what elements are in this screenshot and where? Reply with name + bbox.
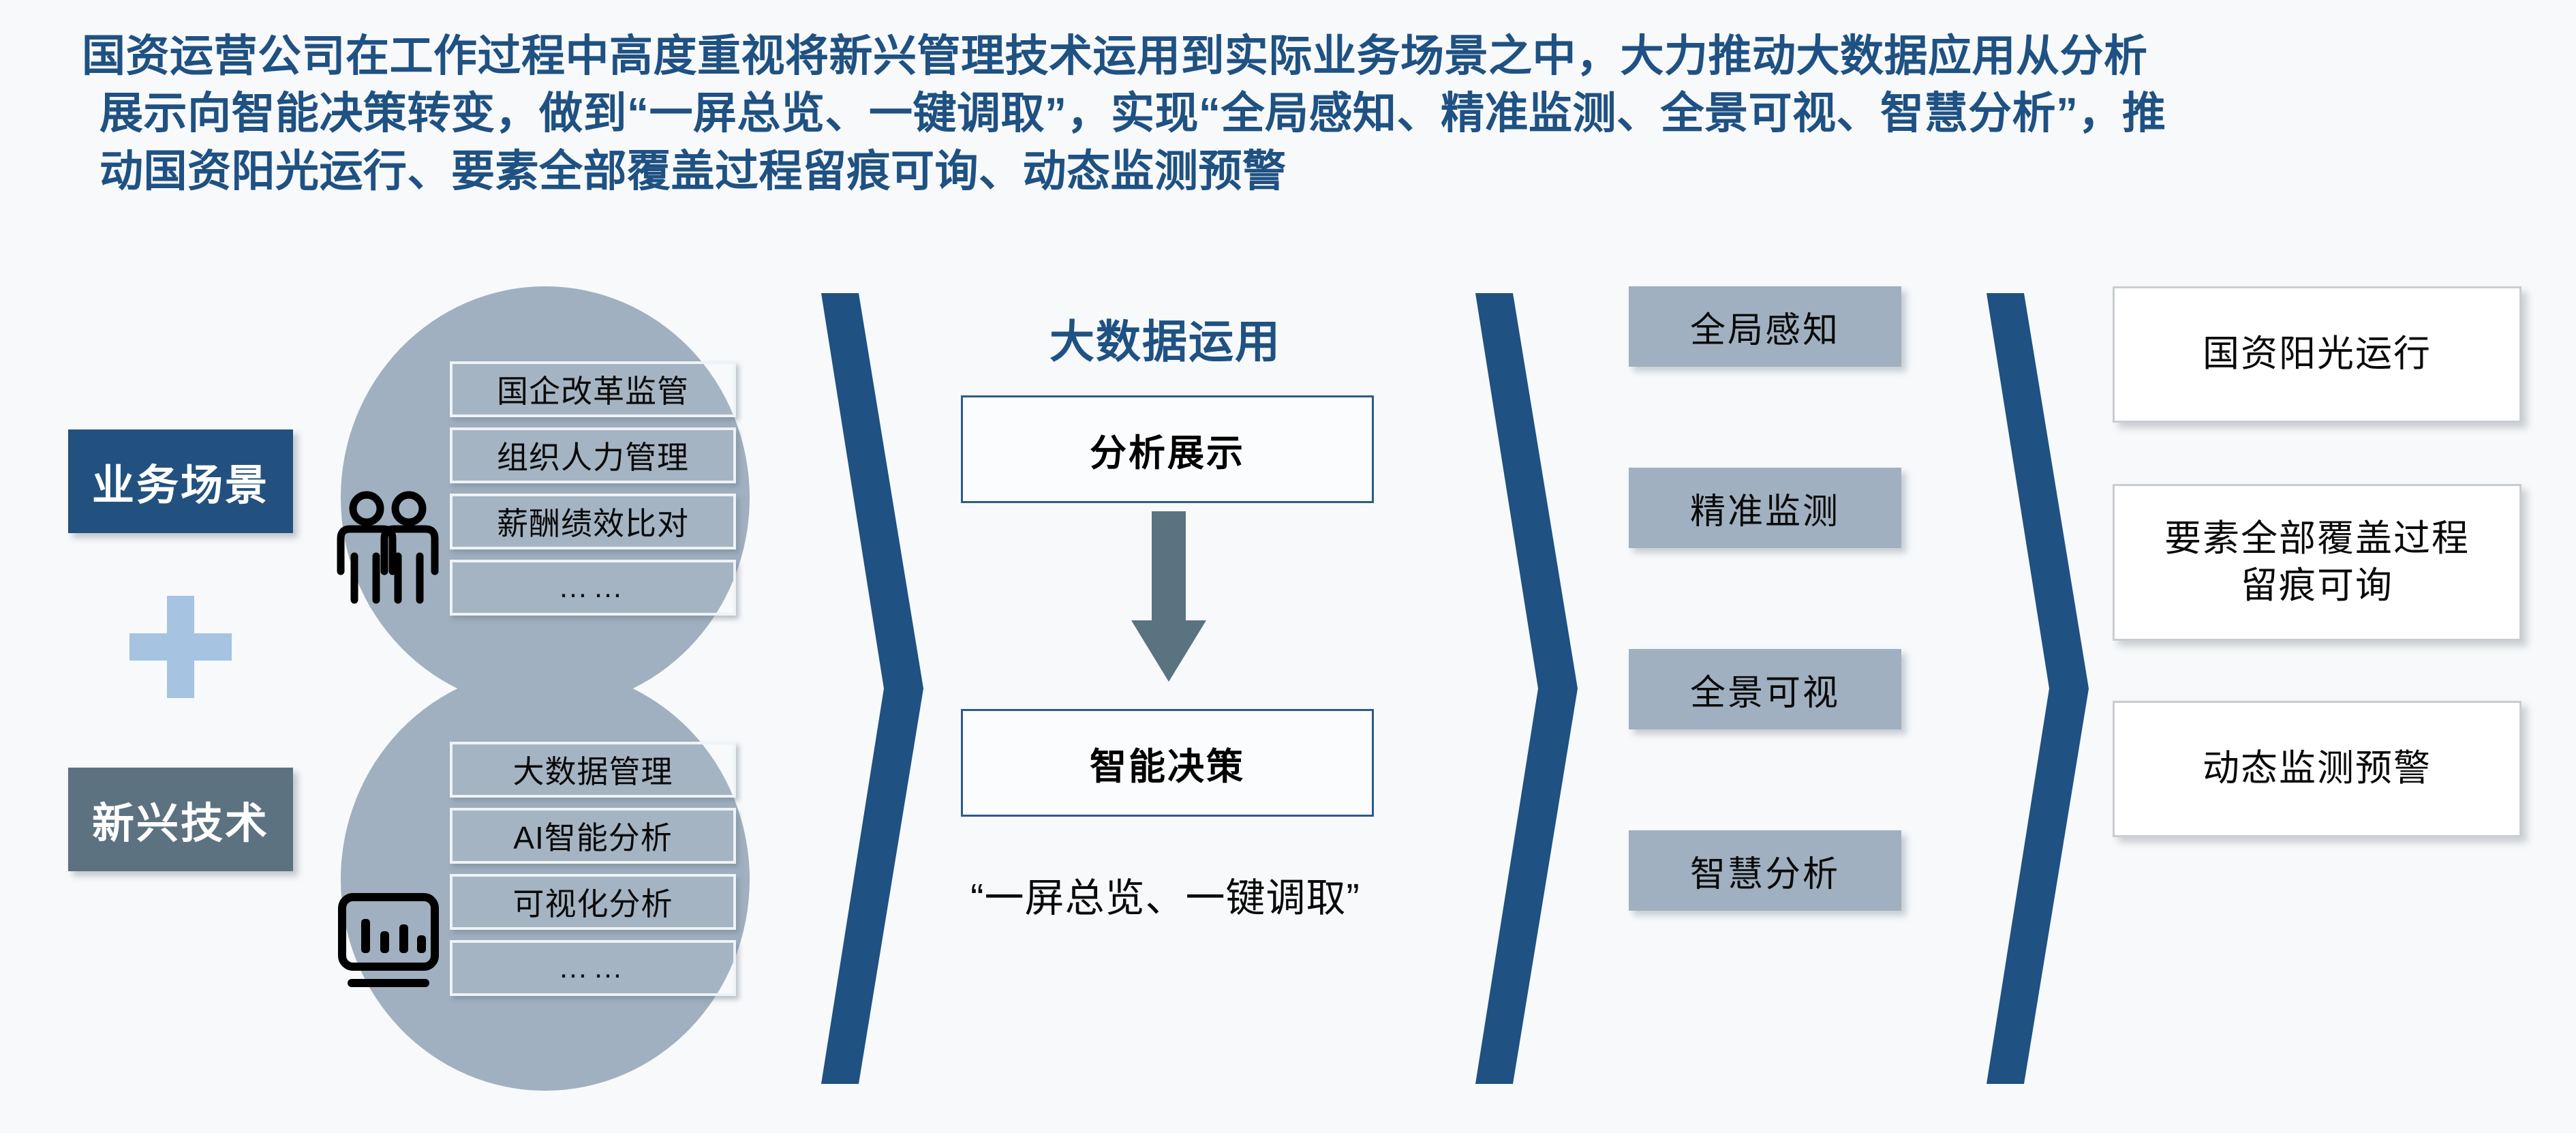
list-item[interactable]: 大数据管理 <box>450 742 736 798</box>
capability-label: 全局感知 <box>1690 301 1840 352</box>
bubble-column: 国企改革监管 组织人力管理 薪酬绩效比对 …… 大数据管理 AI智能分析 可视化… <box>341 286 763 1091</box>
section-heading: 大数据运用 <box>906 305 1424 371</box>
outcome-card-dynamic-monitoring-alert[interactable]: 动态监测预警 <box>2113 701 2521 837</box>
two-people-icon <box>334 491 443 607</box>
capability-item-precise-monitoring[interactable]: 精准监测 <box>1629 468 1901 548</box>
list-item-ellipsis[interactable]: …… <box>450 940 736 996</box>
list-item[interactable]: 组织人力管理 <box>450 427 736 483</box>
diagram-stage: 业务场景 新兴技术 <box>0 273 2576 1133</box>
title-line-3: 动国资阳光运行、要素全部覆盖过程留痕可询、动态监测预警 <box>82 142 2508 200</box>
label-emerging-technology-text: 新兴技术 <box>92 789 269 850</box>
outcome-card-transparent-operation[interactable]: 国资阳光运行 <box>2113 286 2521 423</box>
business-scenario-item-list: 国企改革监管 组织人力管理 薪酬绩效比对 …… <box>450 361 736 616</box>
outcome-column: 国资阳光运行 要素全部覆盖过程 留痕可询 动态监测预警 <box>2113 286 2521 837</box>
flow-node-analysis-display[interactable]: 分析展示 <box>961 395 1374 503</box>
capability-item-global-awareness[interactable]: 全局感知 <box>1629 286 1901 367</box>
capability-label: 智慧分析 <box>1690 845 1840 896</box>
list-item[interactable]: AI智能分析 <box>450 808 736 864</box>
flow-node-label: 分析展示 <box>1090 423 1245 477</box>
list-item-ellipsis[interactable]: …… <box>450 560 736 616</box>
list-item[interactable]: 可视化分析 <box>450 874 736 930</box>
list-item[interactable]: 国企改革监管 <box>450 361 736 417</box>
chip-label: 可视化分析 <box>513 879 673 924</box>
flow-node-smart-decision[interactable]: 智能决策 <box>961 709 1374 817</box>
chip-label: …… <box>558 951 628 985</box>
plus-icon <box>68 569 293 725</box>
chip-label: 国企改革监管 <box>497 367 689 412</box>
chip-label: AI智能分析 <box>513 813 672 858</box>
emerging-technology-item-list: 大数据管理 AI智能分析 可视化分析 …… <box>450 742 736 996</box>
label-emerging-technology[interactable]: 新兴技术 <box>68 768 293 871</box>
page-title: 国资运营公司在工作过程中高度重视将新兴管理技术运用到实际业务场景之中，大力推动大… <box>82 27 2508 200</box>
title-line-2: 展示向智能决策转变，做到“一屏总览、一键调取”，实现“全局感知、精准监测、全景可… <box>82 85 2508 142</box>
flow-node-label: 智能决策 <box>1090 736 1245 790</box>
category-label-column: 业务场景 新兴技术 <box>68 429 313 871</box>
capability-label: 精准监测 <box>1690 483 1840 534</box>
chevron-separator-3-icon <box>1973 286 2096 1091</box>
chip-label: …… <box>558 571 628 605</box>
big-data-section: 大数据运用 分析展示 智能决策 “一屏总览、一键调取” <box>906 286 1424 1091</box>
chip-label: 薪酬绩效比对 <box>497 499 689 544</box>
capability-column: 全局感知 精准监测 全景可视 智慧分析 <box>1629 286 1901 1012</box>
capability-label: 全景可视 <box>1690 664 1840 715</box>
title-line-1: 国资运营公司在工作过程中高度重视将新兴管理技术运用到实际业务场景之中，大力推动大… <box>82 27 2508 85</box>
down-arrow-icon <box>1131 511 1206 682</box>
outcome-card-full-coverage-traceability[interactable]: 要素全部覆盖过程 留痕可询 <box>2113 484 2521 641</box>
section-caption: “一屏总览、一键调取” <box>906 866 1424 923</box>
outcome-card-label: 动态监测预警 <box>2203 745 2432 792</box>
chevron-separator-2-icon <box>1462 286 1584 1091</box>
capability-item-panoramic-visibility[interactable]: 全景可视 <box>1629 649 1901 729</box>
capability-item-smart-analysis[interactable]: 智慧分析 <box>1629 830 1901 911</box>
outcome-card-label: 要素全部覆盖过程 留痕可询 <box>2164 515 2470 609</box>
label-business-scenario-text: 业务场景 <box>92 451 269 512</box>
chip-label: 大数据管理 <box>513 747 673 792</box>
list-item[interactable]: 薪酬绩效比对 <box>450 494 736 549</box>
bar-chart-monitor-icon <box>334 879 443 995</box>
outcome-card-label: 国资阳光运行 <box>2203 331 2432 378</box>
chip-label: 组织人力管理 <box>497 433 689 478</box>
label-business-scenario[interactable]: 业务场景 <box>68 429 293 533</box>
